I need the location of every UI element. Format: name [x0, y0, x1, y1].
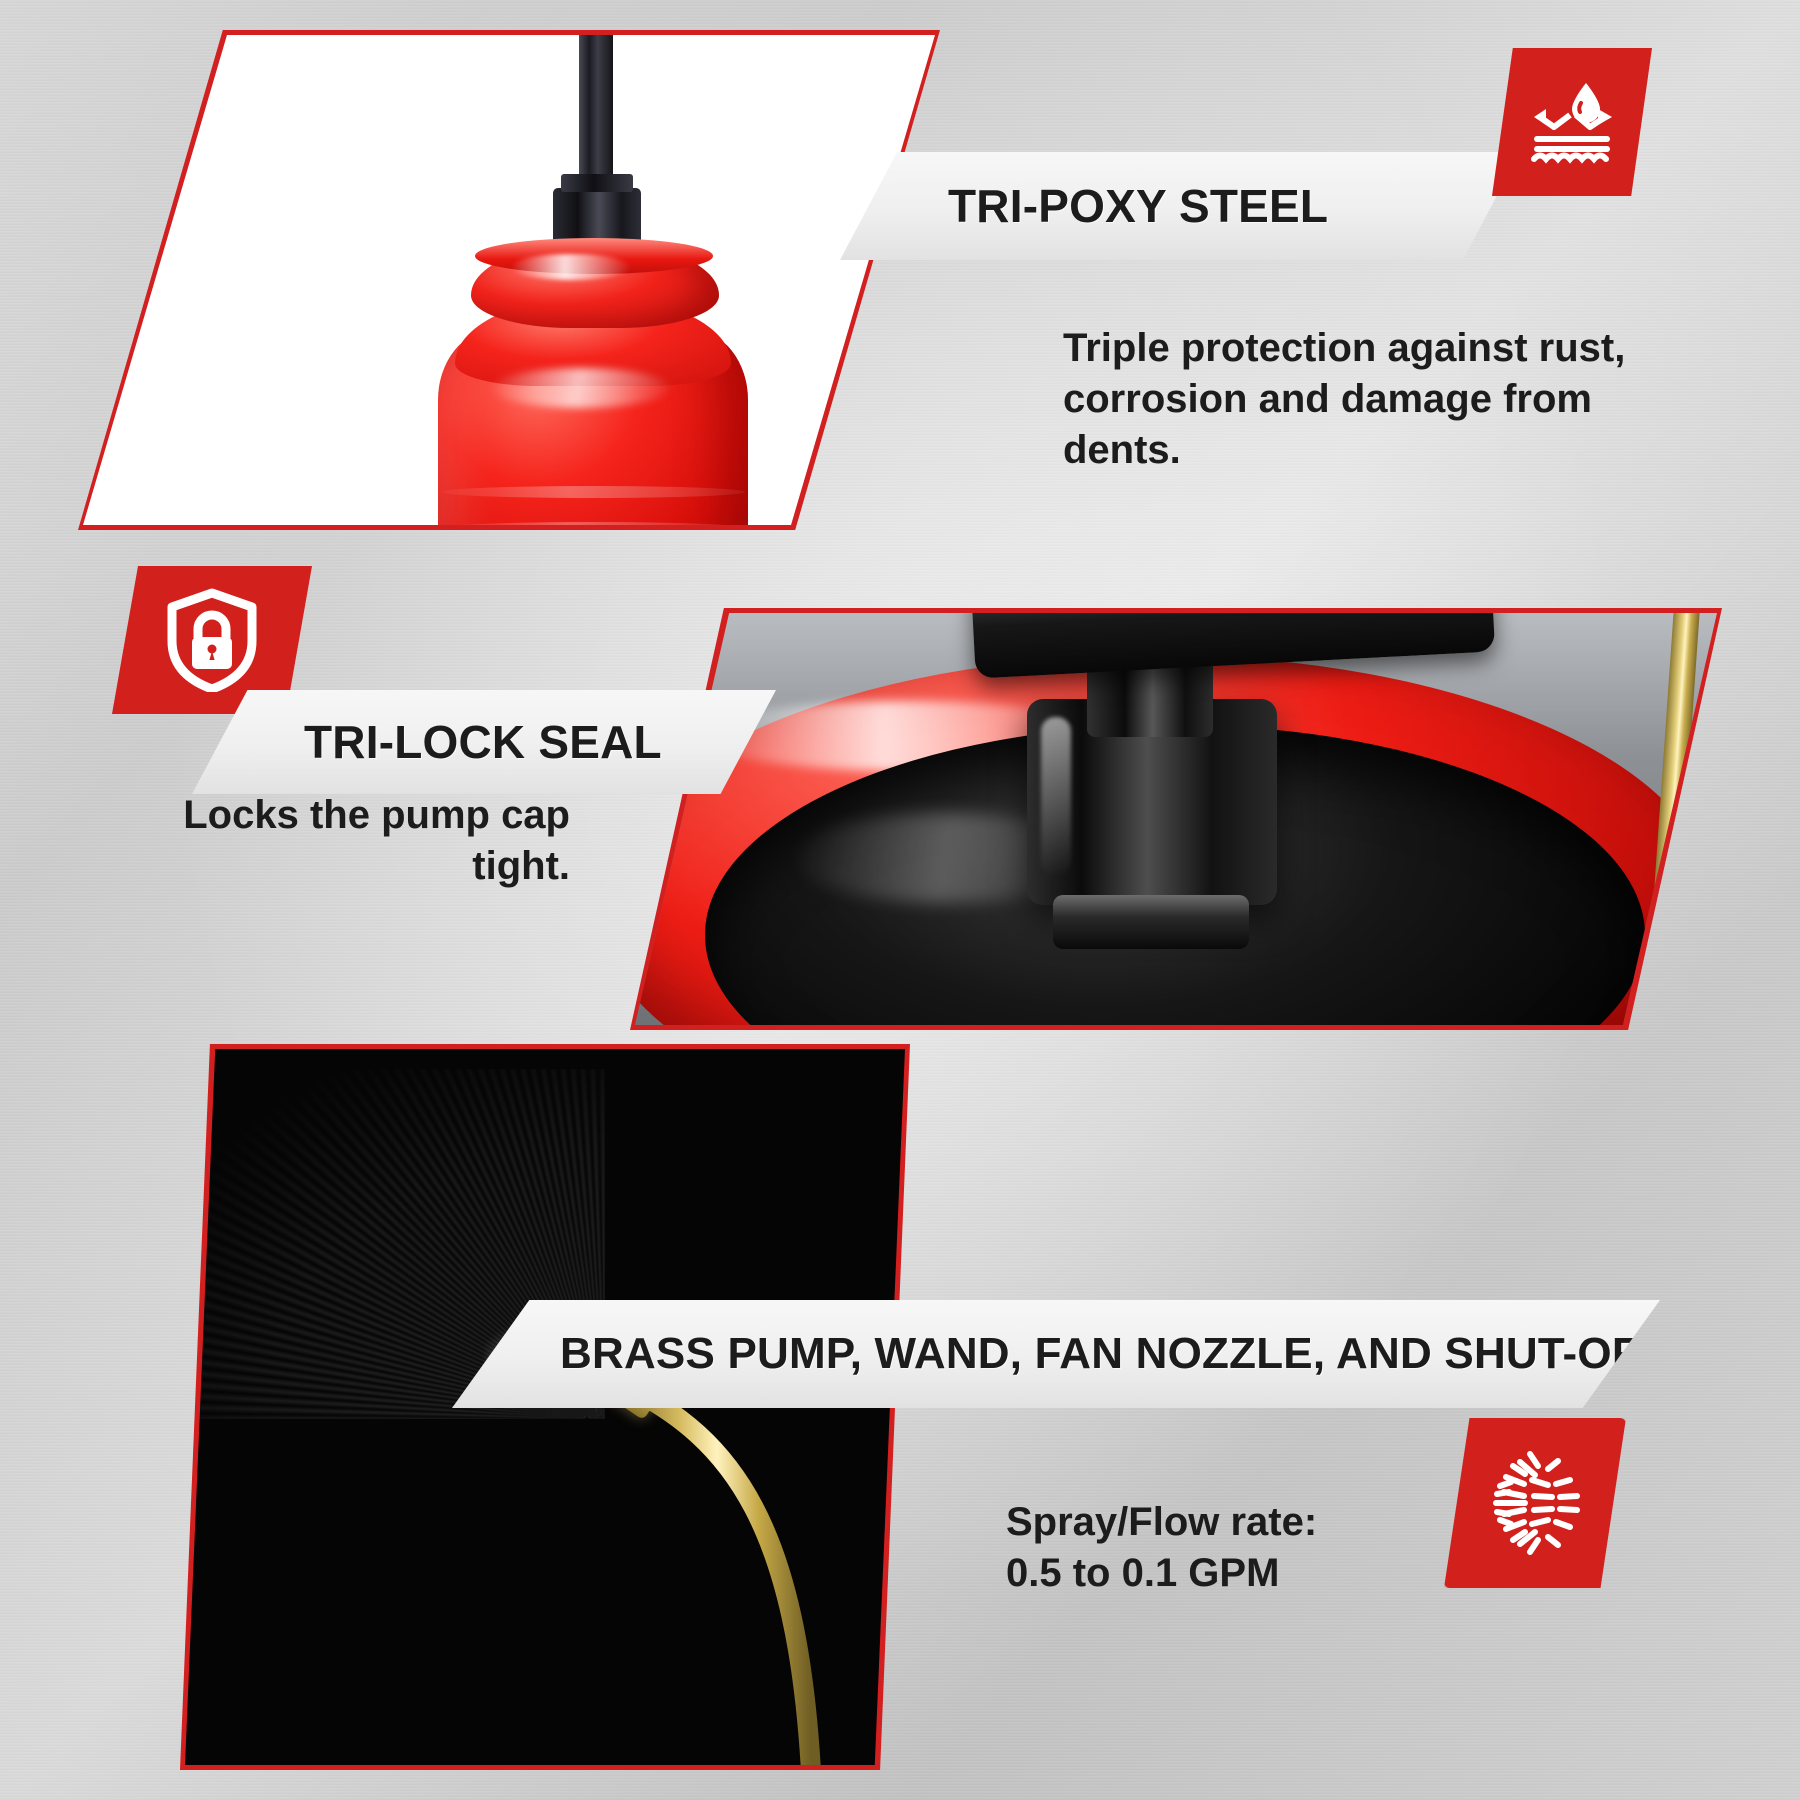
feature-image-panel-tri-lock-seal — [630, 608, 1722, 1030]
feature-body-text-brass-pump: Spray/Flow rate: 0.5 to 0.1 GPM — [1006, 1497, 1526, 1599]
infographic-stage: TRI-POXY STEEL Triple protection against… — [0, 0, 1800, 1800]
feature-title-label: TRI-POXY STEEL — [948, 179, 1328, 233]
feature-title-bar-tri-lock-seal: TRI-LOCK SEAL — [192, 690, 776, 794]
feature-image-panel-tri-poxy-steel — [78, 30, 940, 530]
product-photo-tank-mouth — [635, 613, 1717, 1025]
feature-title-bar-tri-poxy-steel: TRI-POXY STEEL — [840, 152, 1520, 260]
feature-title-label: BRASS PUMP, WAND, FAN NOZZLE, AND SHUT-O… — [560, 1329, 1666, 1379]
spray-flow-rate-value: 0.5 to 0.1 GPM — [1006, 1548, 1526, 1599]
water-repellent-layers-icon — [1492, 48, 1652, 196]
spray-flow-rate-label: Spray/Flow rate: — [1006, 1497, 1526, 1548]
feature-body-text-tri-poxy-steel: Triple protection against rust, corrosio… — [1063, 323, 1663, 477]
feature-body-text-tri-lock-seal: Locks the pump cap tight. — [150, 790, 570, 892]
product-photo-tank-top — [383, 130, 803, 525]
feature-title-label: TRI-LOCK SEAL — [304, 715, 662, 769]
feature-title-bar-brass-pump: BRASS PUMP, WAND, FAN NOZZLE, AND SHUT-O… — [452, 1300, 1660, 1408]
